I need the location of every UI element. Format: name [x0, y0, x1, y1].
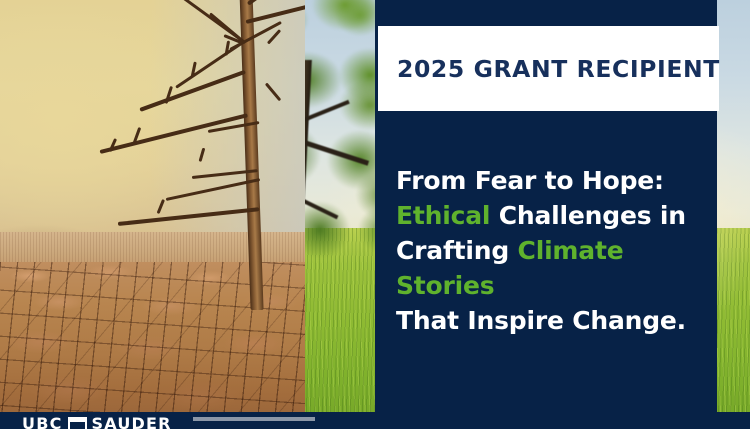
dead-tree-trunk [239, 0, 263, 310]
eyebrow-card: 2025 GRANT RECIPIENT [378, 26, 719, 111]
dead-twig [267, 29, 281, 44]
drought-half [0, 0, 305, 429]
headline-line-2: Ethical Challenges in [396, 198, 706, 233]
footer-bar: UBC SAUDER [0, 412, 750, 429]
headline-line-3-rest: Crafting [396, 236, 518, 265]
dead-tree [80, 0, 305, 320]
ubc-crest-icon [68, 417, 87, 429]
headline-line-1: From Fear to Hope: [396, 163, 706, 198]
dead-branch [246, 3, 305, 24]
logo-prefix: UBC [22, 414, 63, 429]
logo-suffix: SAUDER [92, 414, 172, 429]
headline-line-4: That Inspire Change. [396, 303, 706, 338]
dead-twig [199, 148, 206, 162]
dead-twig [157, 199, 165, 214]
ubc-sauder-logo[interactable]: UBC SAUDER [22, 414, 172, 429]
headline-emphasis-ethical: Ethical [396, 201, 490, 230]
poster: 2025 GRANT RECIPIENT From Fear to Hope: … [0, 0, 750, 429]
dead-branch [100, 113, 248, 154]
dead-branch [118, 207, 260, 226]
dead-twig [265, 83, 281, 102]
dead-branch [247, 0, 300, 6]
headline: From Fear to Hope: Ethical Challenges in… [396, 163, 706, 338]
footer-divider-rule [193, 417, 315, 421]
dead-branch [179, 0, 244, 43]
headline-line-2-rest: Challenges in [490, 201, 686, 230]
headline-line-3: Crafting Climate Stories [396, 233, 706, 303]
eyebrow-label: 2025 GRANT RECIPIENT [397, 55, 720, 83]
